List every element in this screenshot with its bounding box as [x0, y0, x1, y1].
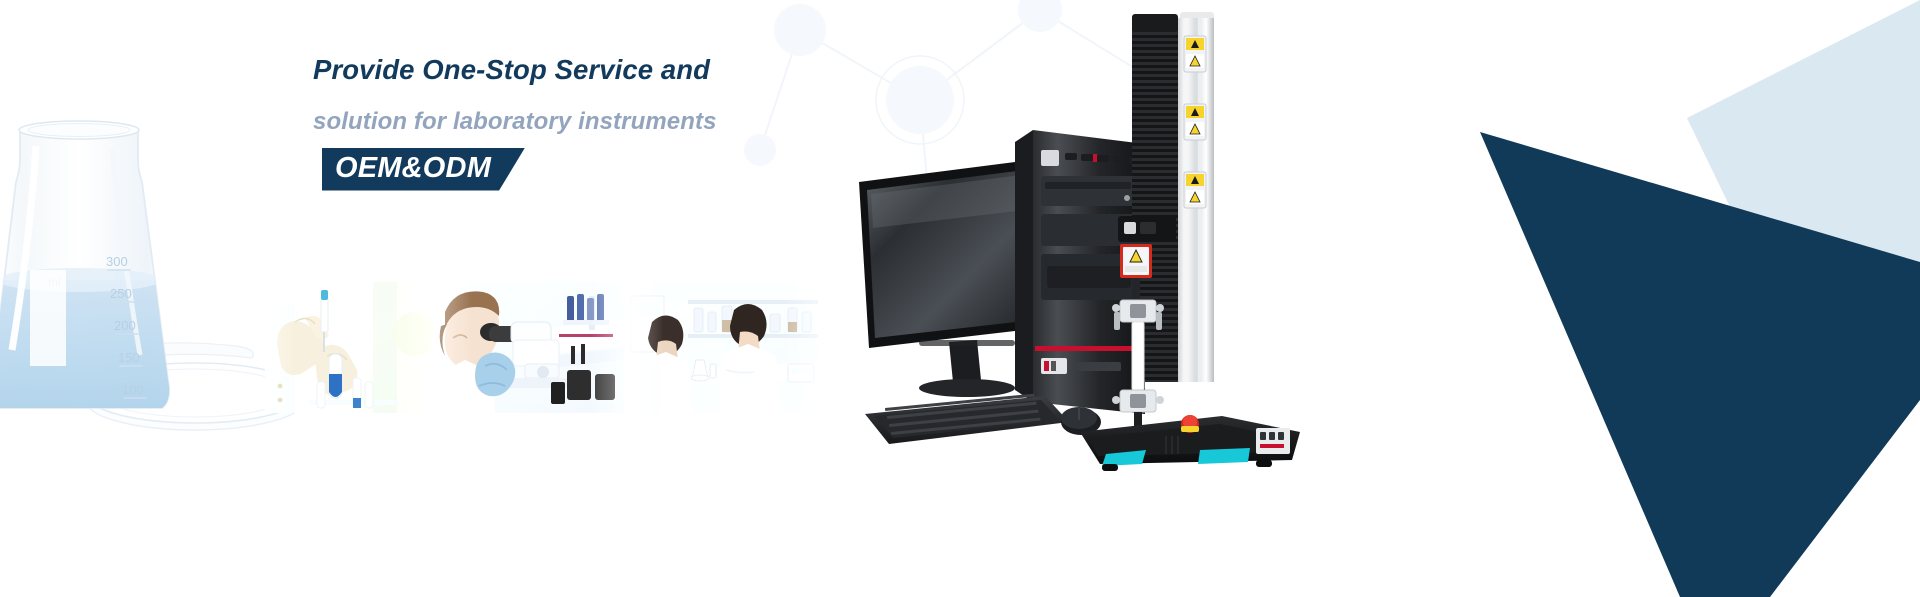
- hero-banner: 300 250 200 150 100 ml Provide One-Stop …: [0, 0, 1920, 597]
- universal-testing-machine: [1080, 8, 1300, 478]
- light-blue-wedge-shape: [1400, 0, 1920, 597]
- svg-text:ml: ml: [48, 275, 61, 289]
- page-subtitle: solution for laboratory instruments: [313, 110, 953, 134]
- erlenmeyer-flask: 300 250 200 150 100 ml: [0, 121, 180, 430]
- navy-arrow-shape: [1160, 0, 1920, 597]
- svg-text:300: 300: [106, 254, 128, 269]
- oem-odm-badge: OEM&ODM: [322, 148, 525, 191]
- photo-pipetting: [265, 282, 433, 413]
- oem-odm-badge-wrapper: OEM&ODM: [322, 148, 525, 191]
- desktop-tower: [1015, 130, 1145, 414]
- lower-grip: [1112, 390, 1164, 412]
- desktop-monitor: [859, 160, 1041, 397]
- keyboard: [865, 394, 1069, 444]
- svg-text:150: 150: [118, 350, 140, 365]
- machine-base: [1080, 415, 1300, 471]
- headline-block: Provide One-Stop Service and solution fo…: [313, 56, 953, 191]
- photo-lab-bench: [630, 282, 818, 413]
- upper-grip: [1112, 300, 1164, 330]
- warning-label-group: [1184, 36, 1206, 208]
- photo-microscope: [439, 282, 624, 413]
- svg-text:100: 100: [122, 382, 144, 397]
- lab-photo-strip: [265, 282, 818, 413]
- svg-text:200: 200: [114, 318, 136, 333]
- page-title: Provide One-Stop Service and: [313, 56, 953, 84]
- svg-text:250: 250: [110, 286, 132, 301]
- mouse: [1061, 407, 1101, 435]
